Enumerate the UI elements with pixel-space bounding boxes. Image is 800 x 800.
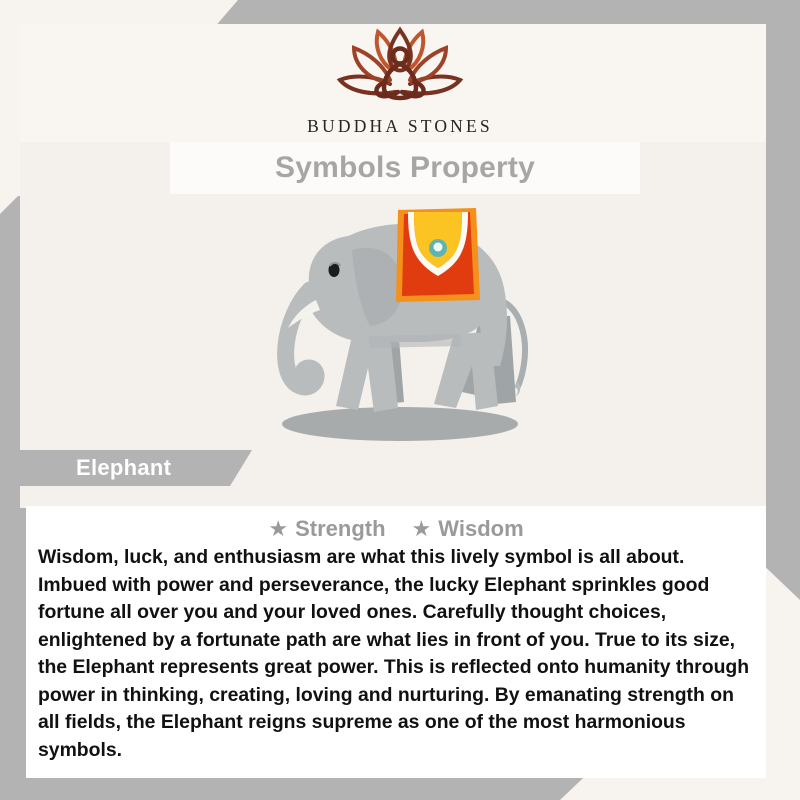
trait-list: ★ Strength ★ Wisdom [26, 506, 766, 542]
brand-name: BUDDHA STONES [307, 116, 493, 137]
symbol-description: Wisdom, luck, and enthusiasm are what th… [38, 544, 754, 764]
walking-elephant-with-saddle-illustration [248, 196, 548, 446]
trait-label: Wisdom [438, 516, 523, 542]
symbol-name: Elephant [76, 455, 171, 481]
trait-item: ★ Strength [268, 516, 385, 542]
trait-label: Strength [295, 516, 385, 542]
title-banner: Symbols Property [170, 142, 640, 194]
page-title: Symbols Property [275, 151, 535, 185]
symbol-name-banner: Elephant [20, 450, 252, 486]
symbol-property-card: BUDDHA STONES Symbols Property [0, 0, 800, 800]
trait-item: ★ Wisdom [412, 516, 524, 542]
illustration-area [20, 196, 766, 464]
description-panel: ★ Strength ★ Wisdom Wisdom, luck, and en… [26, 506, 766, 778]
brand-logo: BUDDHA STONES [0, 22, 800, 137]
star-icon: ★ [412, 518, 432, 540]
lotus-meditation-icon [310, 22, 490, 114]
star-icon: ★ [268, 518, 288, 540]
